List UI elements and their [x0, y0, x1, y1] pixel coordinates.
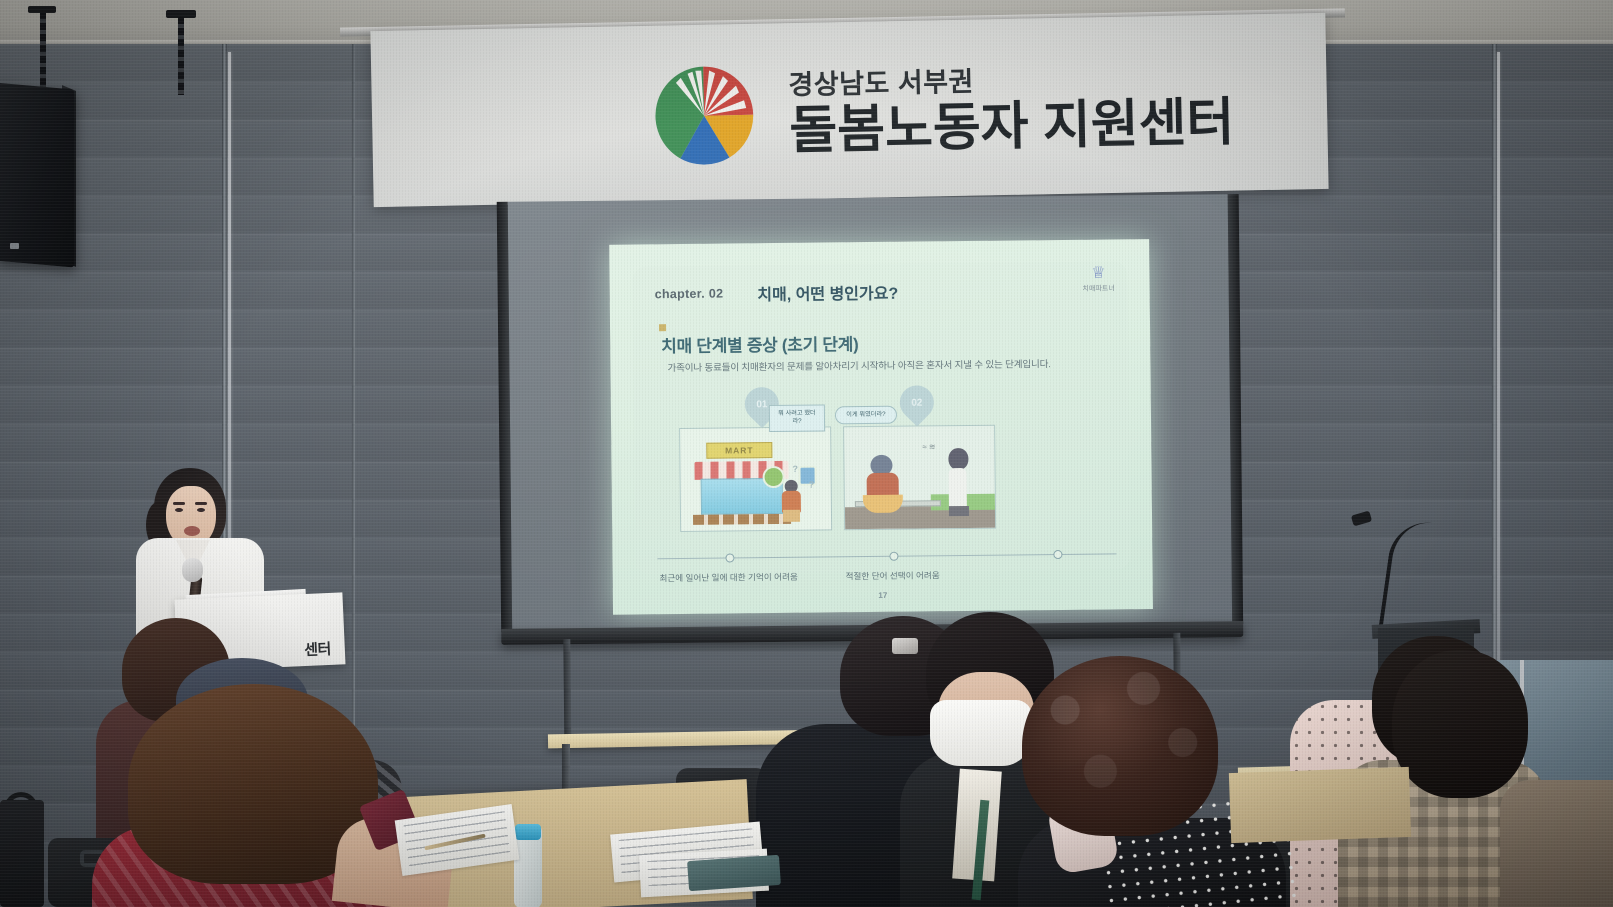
slide-page-number: 17: [613, 588, 1153, 603]
question-mark-icon: ?: [809, 480, 815, 490]
attendee-torso: [1500, 780, 1613, 907]
timeline-node: [725, 553, 734, 562]
walking-person-head-graphic: [948, 448, 968, 470]
face-mask: [930, 700, 1032, 766]
illustration-panel-bench: ≈ ≋: [843, 425, 996, 531]
speaker-chain: [178, 17, 184, 95]
confusion-marks-icon: ≈ ≋: [922, 442, 935, 451]
slide-chapter-label: chapter. 02: [655, 287, 724, 302]
dementia-partner-logo: ♕ 치매파트너: [1075, 265, 1121, 293]
presenter-eye: [175, 508, 183, 512]
attendee-hair-curls: [1022, 656, 1218, 836]
presenter-eye: [197, 508, 205, 512]
step-pin-01-label: 01: [756, 399, 767, 410]
section-bullet-icon: [659, 324, 666, 331]
projected-slide: chapter. 02 치매, 어떤 병인가요? ♕ 치매파트너 치매 단계별 …: [609, 239, 1153, 615]
illustration-panel-mart: MART ? ?: [679, 426, 832, 532]
podium-left-label: 센터: [304, 638, 332, 660]
timeline-caption-2: 적절한 단어 선택이 어려움: [818, 569, 968, 583]
screen-surface: chapter. 02 치매, 어떤 병인가요? ♕ 치매파트너 치매 단계별 …: [508, 194, 1232, 632]
seminar-room-photo: 경상남도 서부권 돌봄노동자 지원센터 chapter. 02 치매, 어떤 병…: [0, 0, 1613, 907]
mart-sign-label: MART: [706, 442, 772, 459]
timeline-node: [889, 552, 898, 561]
screen-support-leg: [563, 639, 571, 747]
slide-header: chapter. 02 치매, 어떤 병인가요?: [655, 277, 1110, 306]
banner-title: 돌봄노동자 지원센터: [789, 96, 1235, 159]
projection-screen: chapter. 02 치매, 어떤 병인가요? ♕ 치매파트너 치매 단계별 …: [497, 194, 1244, 644]
step-pin-02-label: 02: [911, 397, 922, 408]
produce-crates-graphic: [693, 514, 791, 525]
speaker-chain: [40, 12, 46, 90]
speaker-led: [10, 243, 19, 249]
tote-bag[interactable]: [0, 800, 44, 907]
banner-subtitle: 경상남도 서부권: [788, 60, 974, 103]
center-name-banner: 경상남도 서부권 돌봄노동자 지원센터: [370, 13, 1328, 207]
stage-timeline: [657, 553, 1116, 559]
slide-card: chapter. 02 치매, 어떤 병인가요? ♕ 치매파트너 치매 단계별 …: [632, 261, 1130, 574]
timeline-caption-1: 최근에 일어난 일에 대한 기억이 어려움: [654, 571, 804, 585]
step-pin-02: 02: [893, 378, 941, 426]
hair-clip: [892, 638, 918, 654]
side-table: [1229, 767, 1411, 843]
presenter-eyebrow: [195, 502, 207, 505]
slide-section-title: 치매 단계별 증상 (초기 단계): [661, 330, 858, 357]
notebook[interactable]: [687, 855, 781, 891]
timeline-node: [1053, 550, 1062, 559]
speech-bubble-02: 이게 뭐였더라?: [835, 406, 897, 425]
handheld-mic-head: [182, 558, 203, 582]
slide-title: 치매, 어떤 병인가요?: [757, 280, 898, 305]
water-bottle-cap: [515, 824, 541, 840]
presenter-eyebrow: [173, 502, 185, 505]
partner-logo-label: 치매파트너: [1076, 283, 1122, 293]
speech-bubble-01: 뭐 사려고 했더라?: [769, 404, 825, 431]
question-mark-icon: ?: [792, 464, 798, 474]
sunrise-circle-logo: [644, 56, 764, 170]
attendee-head: [1392, 650, 1528, 798]
presenter-mouth: [184, 526, 200, 536]
slide-illustration-area: 01 02 MART ?: [659, 383, 1129, 553]
speaker-cabinet: [0, 83, 74, 268]
blind-pull-cord-right[interactable]: [1497, 52, 1500, 752]
walking-person-legs-graphic: [949, 506, 969, 516]
vegetable-badge-icon: [762, 466, 784, 488]
slide-section-description: 가족이나 동료들이 치매환자의 문제를 알아차리기 시작하나 아직은 혼자서 지…: [667, 356, 1104, 375]
shopper-skirt-graphic: [783, 510, 800, 522]
partner-mark-icon: ♕: [1075, 265, 1121, 281]
